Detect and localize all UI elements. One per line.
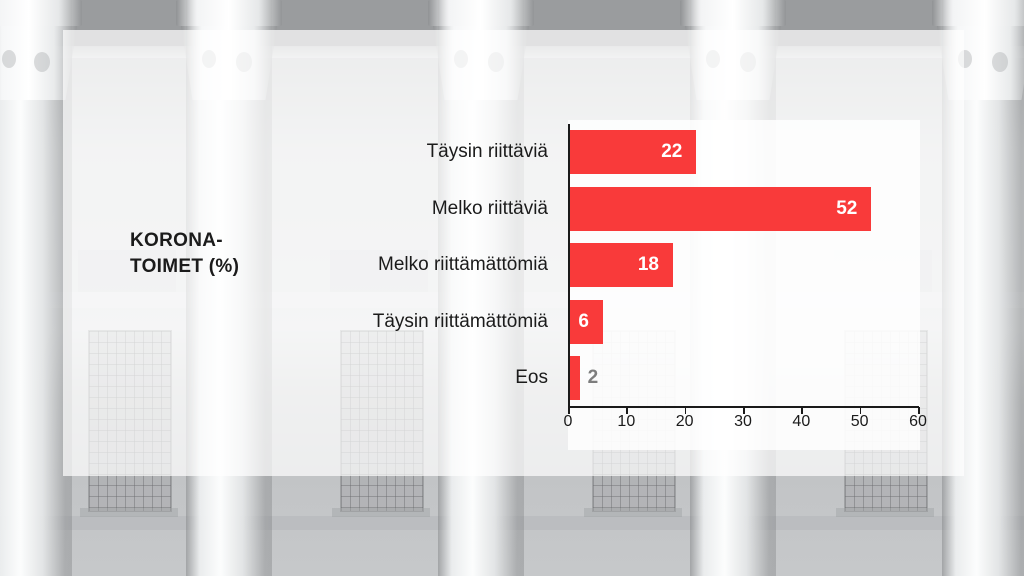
column-capital <box>932 0 1024 26</box>
capital-ornament <box>2 50 16 68</box>
y-axis-line <box>568 124 570 407</box>
chart-title: KORONA- TOIMET (%) <box>130 228 305 280</box>
category-labels: Täysin riittäviäMelko riittäviäMelko rii… <box>288 124 548 407</box>
plot-area: 22521862 <box>568 124 918 407</box>
x-tick-label: 10 <box>617 413 635 431</box>
x-tick-label: 50 <box>851 413 869 431</box>
bar-row: 52 <box>568 181 918 238</box>
bar <box>568 356 580 400</box>
bar-row: 22 <box>568 124 918 181</box>
category-label: Eos <box>288 350 548 407</box>
capital-ornament <box>992 52 1008 72</box>
bar-value-label: 18 <box>568 243 659 287</box>
x-tick-label: 20 <box>676 413 694 431</box>
category-label: Melko riittäviä <box>288 181 548 238</box>
bar-value-label: 22 <box>568 130 682 174</box>
category-label: Täysin riittäviä <box>288 124 548 181</box>
column-capital <box>0 0 82 26</box>
bar-row: 2 <box>568 350 918 407</box>
bar-row: 6 <box>568 294 918 351</box>
column-capital <box>176 0 282 26</box>
x-tick-label: 40 <box>792 413 810 431</box>
x-tick-label: 60 <box>909 413 927 431</box>
bar-value-label: 52 <box>568 187 857 231</box>
bar-row: 18 <box>568 237 918 294</box>
column-capital <box>428 0 534 26</box>
chart-screenshot: KORONA- TOIMET (%) Täysin riittäviäMelko… <box>0 0 1024 576</box>
bar-value-label: 6 <box>568 300 589 344</box>
column-capital <box>680 0 786 26</box>
bar-value-label: 2 <box>588 356 599 400</box>
category-label: Täysin riittämättömiä <box>288 294 548 351</box>
category-label: Melko riittämättömiä <box>288 237 548 294</box>
capital-ornament <box>34 52 50 72</box>
x-tick-label: 30 <box>734 413 752 431</box>
x-tick-label: 0 <box>564 413 573 431</box>
